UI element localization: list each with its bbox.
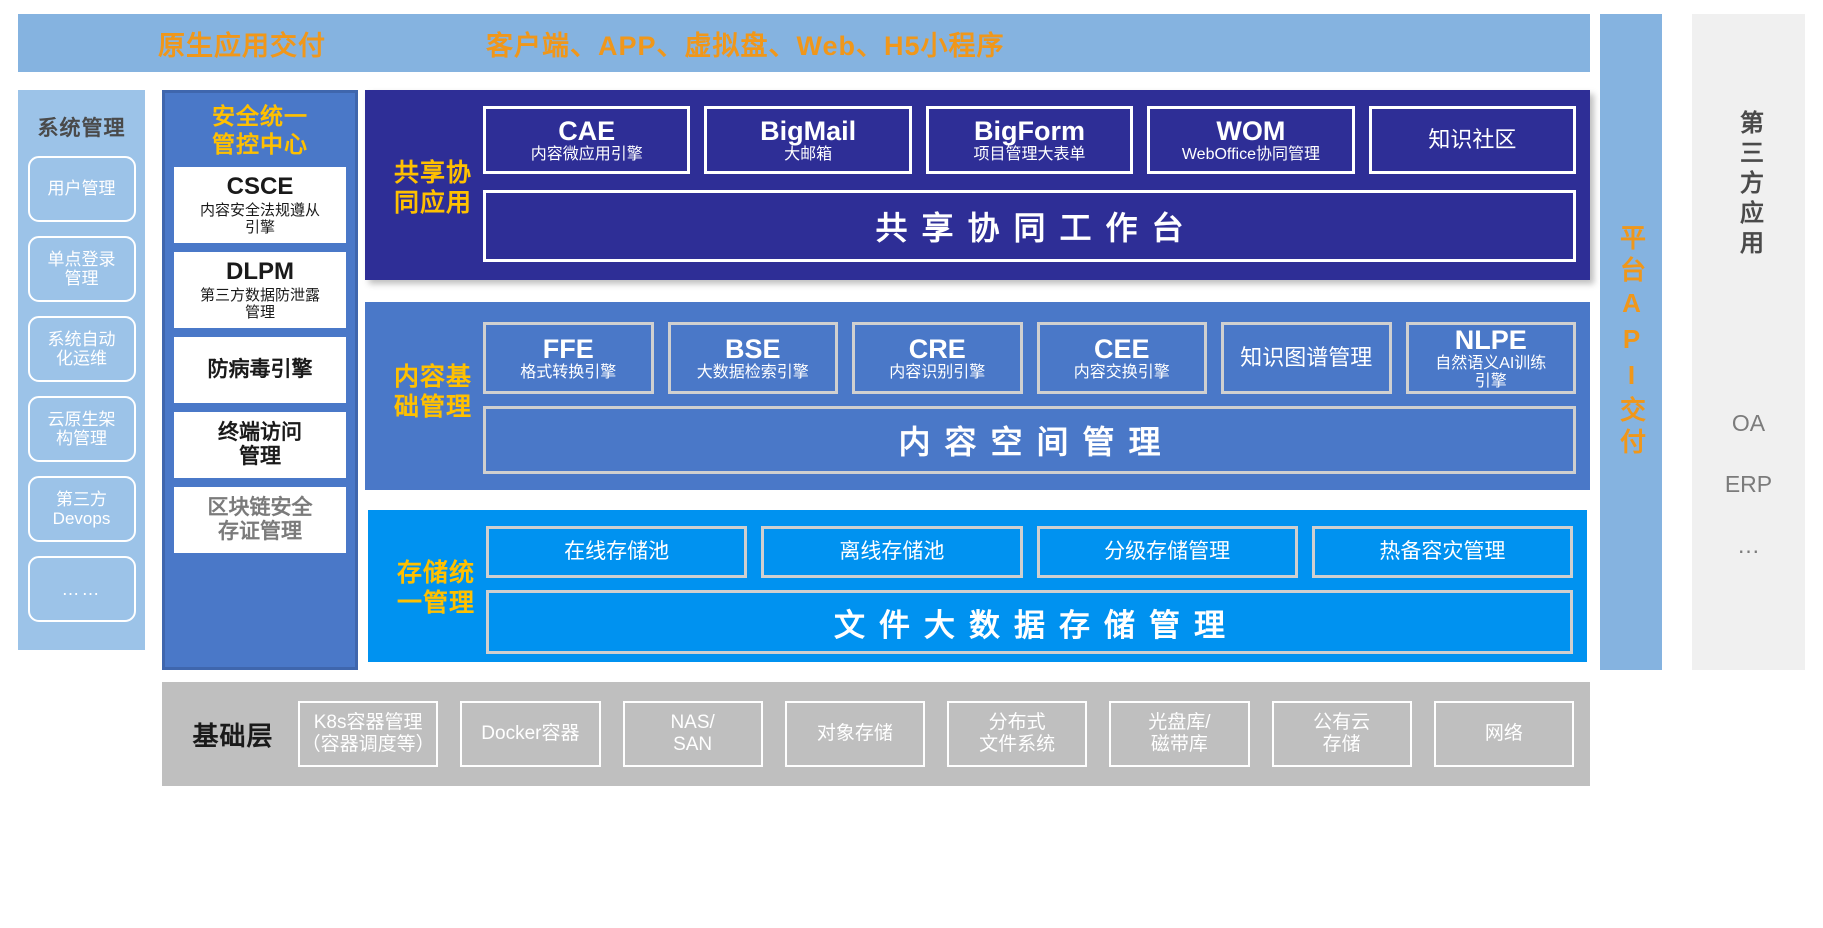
security-control-column: 安全统一管控中心 CSCE 内容安全法规遵从引擎 DLPM 第三方数据防泄露管理… (162, 90, 358, 670)
blockchain-evidence-label: 区块链安全存证管理 (208, 496, 313, 544)
sidebar-item-cloud-native-arch[interactable]: 云原生架构管理 (28, 396, 136, 462)
online-storage-pool-label: 在线存储池 (564, 540, 669, 564)
tile-wom[interactable]: WOM WebOffice协同管理 (1147, 106, 1354, 174)
tile-hot-standby-dr-management[interactable]: 热备容灾管理 (1312, 526, 1573, 578)
tiered-storage-label: 分级存储管理 (1104, 540, 1230, 564)
cee-desc: 内容交换引擎 (1074, 364, 1170, 382)
cre-desc: 内容识别引擎 (889, 364, 985, 382)
infra-tile-nas-san[interactable]: NAS/SAN (623, 701, 763, 767)
endpoint-access-label: 终端访问管理 (218, 421, 302, 469)
sidebar-item-user-management[interactable]: 用户管理 (28, 156, 136, 222)
file-bigdata-storage-bar[interactable]: 文件大数据存储管理 (486, 590, 1573, 654)
third-party-apps-column: 第三方应用 OA ERP … (1692, 14, 1805, 670)
tile-offline-storage-pool[interactable]: 离线存储池 (761, 526, 1022, 578)
offline-storage-pool-label: 离线存储池 (839, 540, 944, 564)
content-space-management-bar[interactable]: 内容空间管理 (483, 406, 1576, 474)
nlpe-desc: 自然语义AI训练引擎 (1435, 355, 1546, 390)
storage-unified-management-label: 存储统一管理 (386, 558, 486, 618)
shared-collaboration-band: 共享协同应用 CAE 内容微应用引擎 BigMail 大邮箱 BigForm 项… (365, 90, 1590, 280)
architecture-diagram: 原生应用交付 客户端、APP、虚拟盘、Web、H5小程序 系统管理 用户管理 单… (0, 0, 1823, 928)
knowledge-graph-label: 知识图谱管理 (1240, 345, 1372, 370)
csce-code: CSCE (227, 174, 294, 200)
client-channels-label: 客户端、APP、虚拟盘、Web、H5小程序 (486, 24, 1005, 63)
hot-standby-dr-label: 热备容灾管理 (1379, 540, 1505, 564)
bigform-desc: 项目管理大表单 (974, 146, 1086, 164)
storage-unified-management-band: 存储统一管理 在线存储池 离线存储池 分级存储管理 热备容灾管理 文件大数据存储… (368, 510, 1587, 662)
top-delivery-banner: 原生应用交付 客户端、APP、虚拟盘、Web、H5小程序 (18, 14, 1590, 72)
sidebar-item-third-party-devops[interactable]: 第三方Devops (28, 476, 136, 542)
content-base-management-band: 内容基础管理 FFE 格式转换引擎 BSE 大数据检索引擎 CRE 内容识别引擎… (365, 302, 1590, 490)
bigform-code: BigForm (974, 117, 1085, 145)
infrastructure-band: 基础层 K8s容器管理（容器调度等） Docker容器 NAS/SAN 对象存储… (162, 682, 1590, 786)
security-item-dlpm[interactable]: DLPM 第三方数据防泄露管理 (174, 252, 346, 328)
content-base-tiles: FFE 格式转换引擎 BSE 大数据检索引擎 CRE 内容识别引擎 CEE 内容… (483, 322, 1576, 394)
csce-desc: 内容安全法规遵从引擎 (200, 202, 320, 237)
tile-ffe[interactable]: FFE 格式转换引擎 (483, 322, 654, 394)
tile-online-storage-pool[interactable]: 在线存储池 (486, 526, 747, 578)
ffe-code: FFE (543, 335, 594, 363)
cae-code: CAE (558, 117, 615, 145)
nlpe-code: NLPE (1455, 326, 1527, 354)
platform-api-column: 平台API交付 (1600, 14, 1662, 670)
security-center-title: 安全统一管控中心 (165, 103, 355, 158)
security-item-endpoint-access[interactable]: 终端访问管理 (174, 412, 346, 478)
tile-knowledge-graph[interactable]: 知识图谱管理 (1221, 322, 1392, 394)
cre-code: CRE (909, 335, 966, 363)
infrastructure-title: 基础层 (168, 716, 298, 753)
infra-tile-k8s[interactable]: K8s容器管理（容器调度等） (298, 701, 438, 767)
infra-tile-docker[interactable]: Docker容器 (460, 701, 600, 767)
third-party-item-more: … (1737, 532, 1760, 559)
native-delivery-label: 原生应用交付 (158, 24, 326, 63)
knowledge-community-label: 知识社区 (1428, 127, 1516, 152)
third-party-item-oa: OA (1732, 410, 1765, 437)
sidebar-item-sso-management[interactable]: 单点登录管理 (28, 236, 136, 302)
tile-knowledge-community[interactable]: 知识社区 (1369, 106, 1576, 174)
tile-cre[interactable]: CRE 内容识别引擎 (852, 322, 1023, 394)
bigmail-code: BigMail (760, 117, 856, 145)
sidebar-item-auto-ops[interactable]: 系统自动化运维 (28, 316, 136, 382)
system-management-title: 系统管理 (18, 112, 145, 142)
security-item-antivirus-engine[interactable]: 防病毒引擎 (174, 337, 346, 403)
tile-cee[interactable]: CEE 内容交换引擎 (1037, 322, 1208, 394)
infra-tile-network[interactable]: 网络 (1434, 701, 1574, 767)
tile-bigmail[interactable]: BigMail 大邮箱 (704, 106, 911, 174)
infrastructure-tiles: K8s容器管理（容器调度等） Docker容器 NAS/SAN 对象存储 分布式… (298, 701, 1590, 767)
sidebar-item-more[interactable]: …… (28, 556, 136, 622)
bse-code: BSE (725, 335, 781, 363)
tile-tiered-storage-management[interactable]: 分级存储管理 (1037, 526, 1298, 578)
bse-desc: 大数据检索引擎 (697, 364, 809, 382)
cae-desc: 内容微应用引擎 (531, 146, 643, 164)
tile-nlpe[interactable]: NLPE 自然语义AI训练引擎 (1406, 322, 1577, 394)
infra-tile-distributed-fs[interactable]: 分布式文件系统 (947, 701, 1087, 767)
security-item-csce[interactable]: CSCE 内容安全法规遵从引擎 (174, 167, 346, 243)
platform-api-label: 平台API交付 (1612, 224, 1651, 460)
ffe-desc: 格式转换引擎 (520, 364, 616, 382)
cee-code: CEE (1094, 335, 1150, 363)
bigmail-desc: 大邮箱 (784, 146, 832, 164)
content-base-management-label: 内容基础管理 (383, 362, 483, 422)
wom-desc: WebOffice协同管理 (1182, 146, 1320, 164)
infra-tile-optical-tape-library[interactable]: 光盘库/磁带库 (1109, 701, 1249, 767)
third-party-apps-title: 第三方应用 (1734, 110, 1764, 260)
tile-bse[interactable]: BSE 大数据检索引擎 (668, 322, 839, 394)
tile-cae[interactable]: CAE 内容微应用引擎 (483, 106, 690, 174)
tile-bigform[interactable]: BigForm 项目管理大表单 (926, 106, 1133, 174)
security-item-blockchain-evidence[interactable]: 区块链安全存证管理 (174, 487, 346, 553)
storage-tiles: 在线存储池 离线存储池 分级存储管理 热备容灾管理 (486, 526, 1573, 578)
third-party-item-erp: ERP (1725, 471, 1772, 498)
infra-tile-object-storage[interactable]: 对象存储 (785, 701, 925, 767)
infra-tile-public-cloud-storage[interactable]: 公有云存储 (1272, 701, 1412, 767)
shared-collaboration-label: 共享协同应用 (383, 158, 483, 218)
antivirus-engine-label: 防病毒引擎 (208, 358, 313, 382)
dlpm-desc: 第三方数据防泄露管理 (200, 287, 320, 322)
system-management-column: 系统管理 用户管理 单点登录管理 系统自动化运维 云原生架构管理 第三方Devo… (18, 90, 145, 650)
shared-collaboration-workbench[interactable]: 共享协同工作台 (483, 190, 1576, 262)
wom-code: WOM (1216, 117, 1285, 145)
shared-collaboration-tiles: CAE 内容微应用引擎 BigMail 大邮箱 BigForm 项目管理大表单 … (483, 106, 1576, 174)
dlpm-code: DLPM (226, 259, 294, 285)
